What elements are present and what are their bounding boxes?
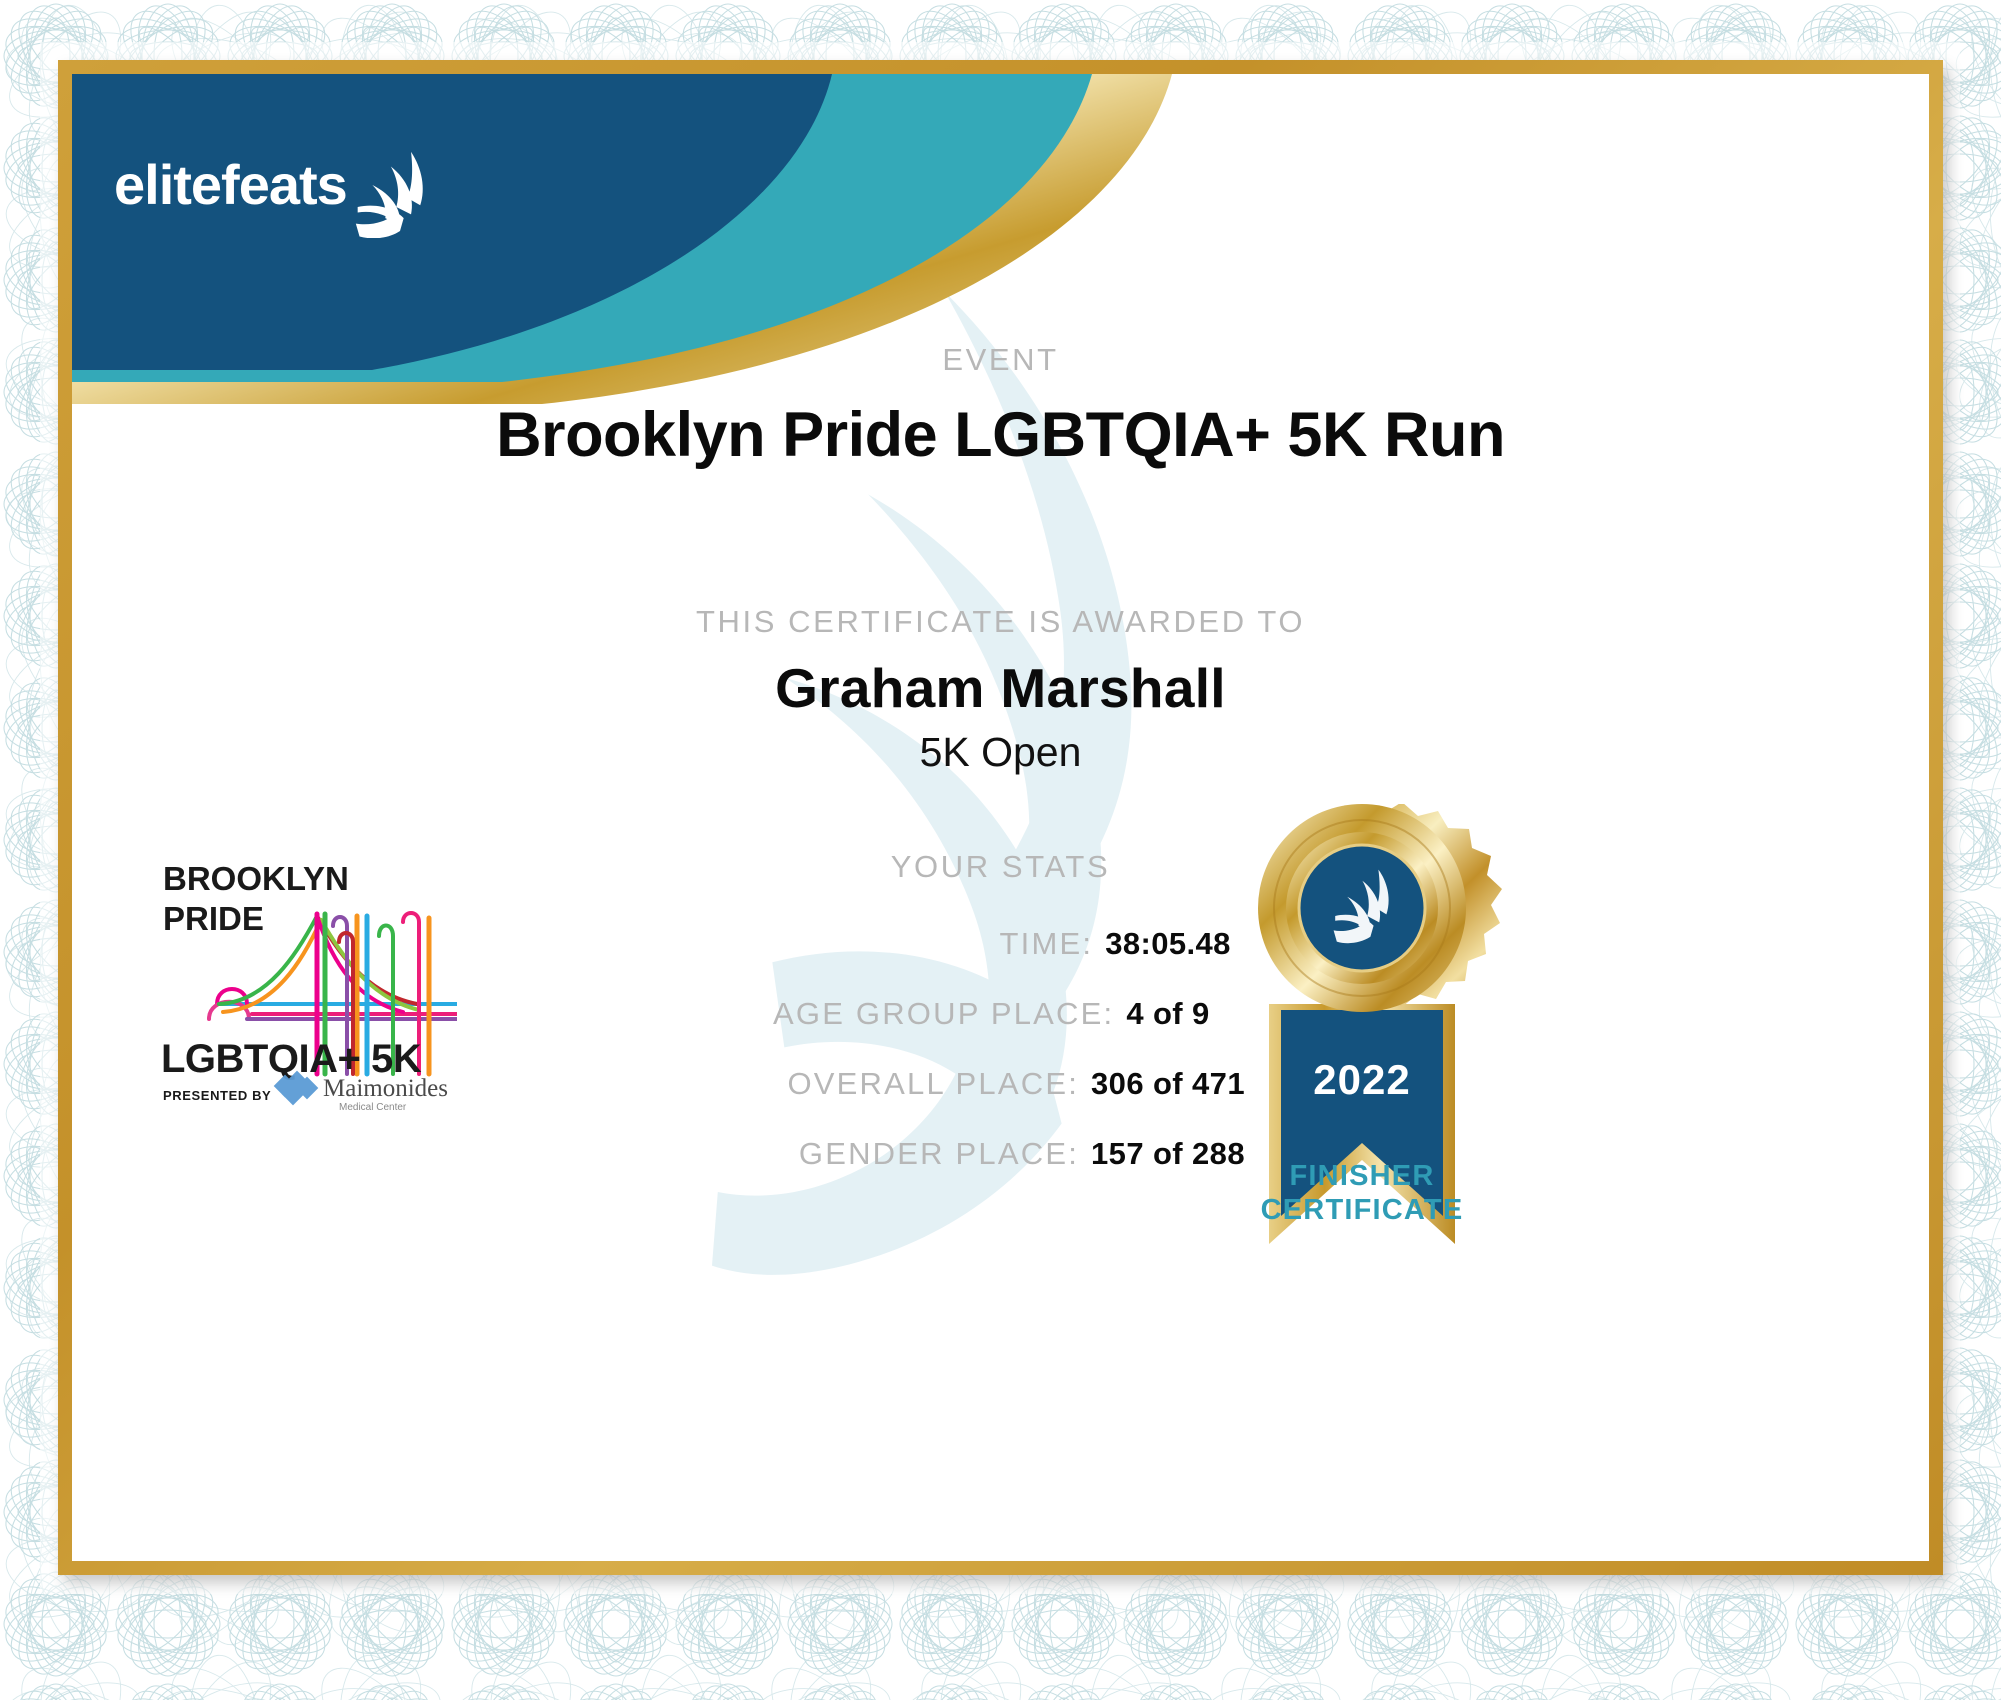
event-title: Brooklyn Pride LGBTQIA+ 5K Run [72,399,1929,471]
awarded-to-row: THIS CERTIFICATE IS AWARDED TO [72,604,1929,640]
finisher-caption-line2: CERTIFICATE [1197,1193,1527,1227]
stat-label-time: TIME: [553,926,1093,962]
awarded-to-label: THIS CERTIFICATE IS AWARDED TO [696,604,1305,639]
finisher-caption-line1: FINISHER [1197,1159,1527,1193]
presented-by-label: PRESENTED BY [163,1088,271,1103]
event-label: EVENT [942,342,1058,378]
certificate-body: elitefeats EVENT Brooklyn Pride LGBTQIA+… [72,74,1929,1561]
your-stats-label: YOUR STATS [891,849,1110,884]
finisher-medal-badge: 2022 [1197,804,1527,1304]
sponsor-name: Maimonides [323,1075,448,1102]
certificate-frame: elitefeats EVENT Brooklyn Pride LGBTQIA+… [58,60,1943,1575]
finisher-caption: FINISHER CERTIFICATE [1197,1159,1527,1227]
event-logo-line2: PRIDE [163,900,264,937]
recipient-division: 5K Open [72,729,1929,776]
event-label-row: EVENT [72,342,1929,378]
badge-year: 2022 [1313,1056,1410,1103]
event-logo-line1: BROOKLYN [163,860,349,897]
stat-label-overall-place: OVERALL PLACE: [539,1066,1079,1102]
brooklyn-pride-event-logo: BROOKLYN PRIDE LGBTQIA+ 5K PRESENTED BY … [157,854,457,1114]
certificate-page: elitefeats EVENT Brooklyn Pride LGBTQIA+… [0,0,2001,1700]
stat-label-gender-place: GENDER PLACE: [539,1136,1079,1172]
sponsor-subtitle: Medical Center [339,1102,407,1113]
recipient-name: Graham Marshall [72,656,1929,720]
elitefeats-logo: elitefeats [114,142,454,238]
svg-text:elitefeats: elitefeats [114,153,347,216]
stat-label-age-group-place: AGE GROUP PLACE: [574,996,1114,1032]
certificate-content: EVENT Brooklyn Pride LGBTQIA+ 5K Run THI… [72,74,1929,1561]
